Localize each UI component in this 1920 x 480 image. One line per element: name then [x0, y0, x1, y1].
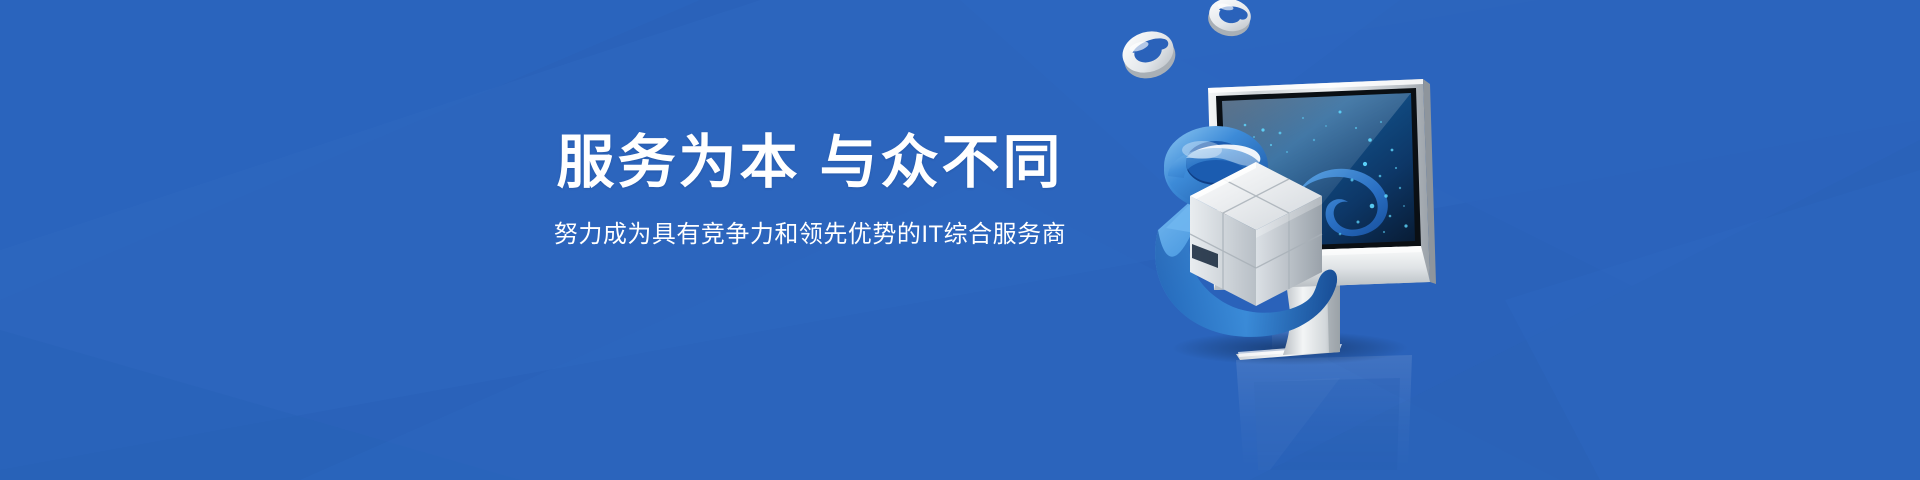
hero-banner: 服务为本 与众不同 努力成为具有竞争力和领先优势的IT综合服务商 — [0, 0, 1920, 480]
page-subtitle: 努力成为具有竞争力和领先优势的IT综合服务商 — [490, 219, 1130, 250]
e-logo-small-1 — [1117, 25, 1181, 85]
page-title: 服务为本 与众不同 — [490, 130, 1130, 197]
e-logo-small-2 — [1205, 0, 1254, 40]
hero-artwork — [1040, 0, 1560, 480]
artwork-illustration — [1040, 0, 1560, 480]
banner-copy: 服务为本 与众不同 努力成为具有竞争力和领先优势的IT综合服务商 — [490, 130, 1130, 250]
